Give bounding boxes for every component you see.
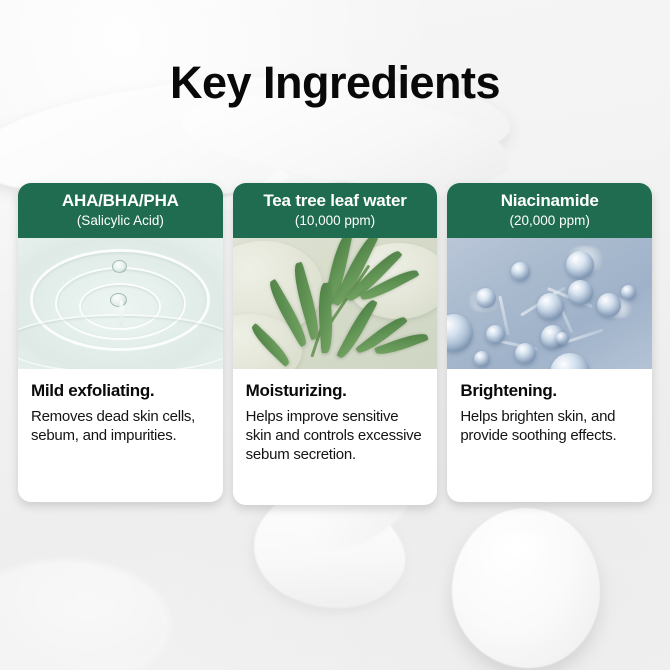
- ingredient-image-water-ripple: [18, 238, 223, 369]
- ingredient-card-aha-bha-pha[interactable]: AHA/BHA/PHA (Salicylic Acid) Mild exfoli…: [18, 183, 223, 502]
- molecule-sphere: [621, 285, 636, 300]
- water-droplet-stem: [119, 300, 124, 326]
- cream-droplet-highlight: [486, 524, 556, 570]
- ingredient-subtitle-3: (20,000 ppm): [453, 212, 646, 230]
- ingredient-card-niacinamide[interactable]: Niacinamide (20,000 ppm): [447, 183, 652, 502]
- ingredient-card-tea-tree-leaf-water[interactable]: Tea tree leaf water (10,000 ppm) Moistur…: [233, 183, 438, 505]
- ingredient-benefit-3: Brightening.: [460, 381, 639, 401]
- card-body-3: Brightening. Helps brighten skin, and pr…: [447, 369, 652, 502]
- card-header-3: Niacinamide (20,000 ppm): [447, 183, 652, 238]
- card-header-2: Tea tree leaf water (10,000 ppm): [233, 183, 438, 238]
- molecule-sphere: [511, 262, 530, 281]
- ingredient-description-3: Helps brighten skin, and provide soothin…: [460, 407, 639, 445]
- ingredient-image-tea-tree-leaves: [233, 238, 438, 369]
- ingredient-benefit-2: Moisturizing.: [246, 381, 425, 401]
- molecule-sphere: [515, 343, 536, 364]
- card-body-2: Moisturizing. Helps improve sensitive sk…: [233, 369, 438, 505]
- molecule-sphere: [566, 251, 594, 279]
- ingredient-name-1: AHA/BHA/PHA: [24, 191, 217, 211]
- page-title: Key Ingredients: [0, 57, 670, 109]
- card-header-1: AHA/BHA/PHA (Salicylic Acid): [18, 183, 223, 238]
- molecule-sphere: [447, 314, 473, 352]
- molecule-sphere: [474, 351, 490, 367]
- ingredient-description-2: Helps improve sensitive skin and control…: [246, 407, 425, 465]
- ingredient-subtitle-2: (10,000 ppm): [239, 212, 432, 230]
- molecule-sphere: [556, 332, 569, 345]
- ingredient-subtitle-1: (Salicylic Acid): [24, 212, 217, 230]
- card-body-1: Mild exfoliating. Removes dead skin cell…: [18, 369, 223, 502]
- ingredient-name-3: Niacinamide: [453, 191, 646, 211]
- ingredient-name-2: Tea tree leaf water: [239, 191, 432, 211]
- molecule-sphere: [476, 288, 496, 308]
- molecule-sphere: [550, 353, 590, 369]
- molecule-sphere: [568, 280, 593, 305]
- ingredient-image-molecules: [447, 238, 652, 369]
- molecule-sphere: [597, 293, 621, 317]
- ingredient-card-list: AHA/BHA/PHA (Salicylic Acid) Mild exfoli…: [18, 183, 652, 505]
- molecule-sphere: [486, 325, 505, 344]
- ingredient-benefit-1: Mild exfoliating.: [31, 381, 210, 401]
- ingredient-description-1: Removes dead skin cells, sebum, and impu…: [31, 407, 210, 445]
- molecule-sphere: [537, 293, 564, 320]
